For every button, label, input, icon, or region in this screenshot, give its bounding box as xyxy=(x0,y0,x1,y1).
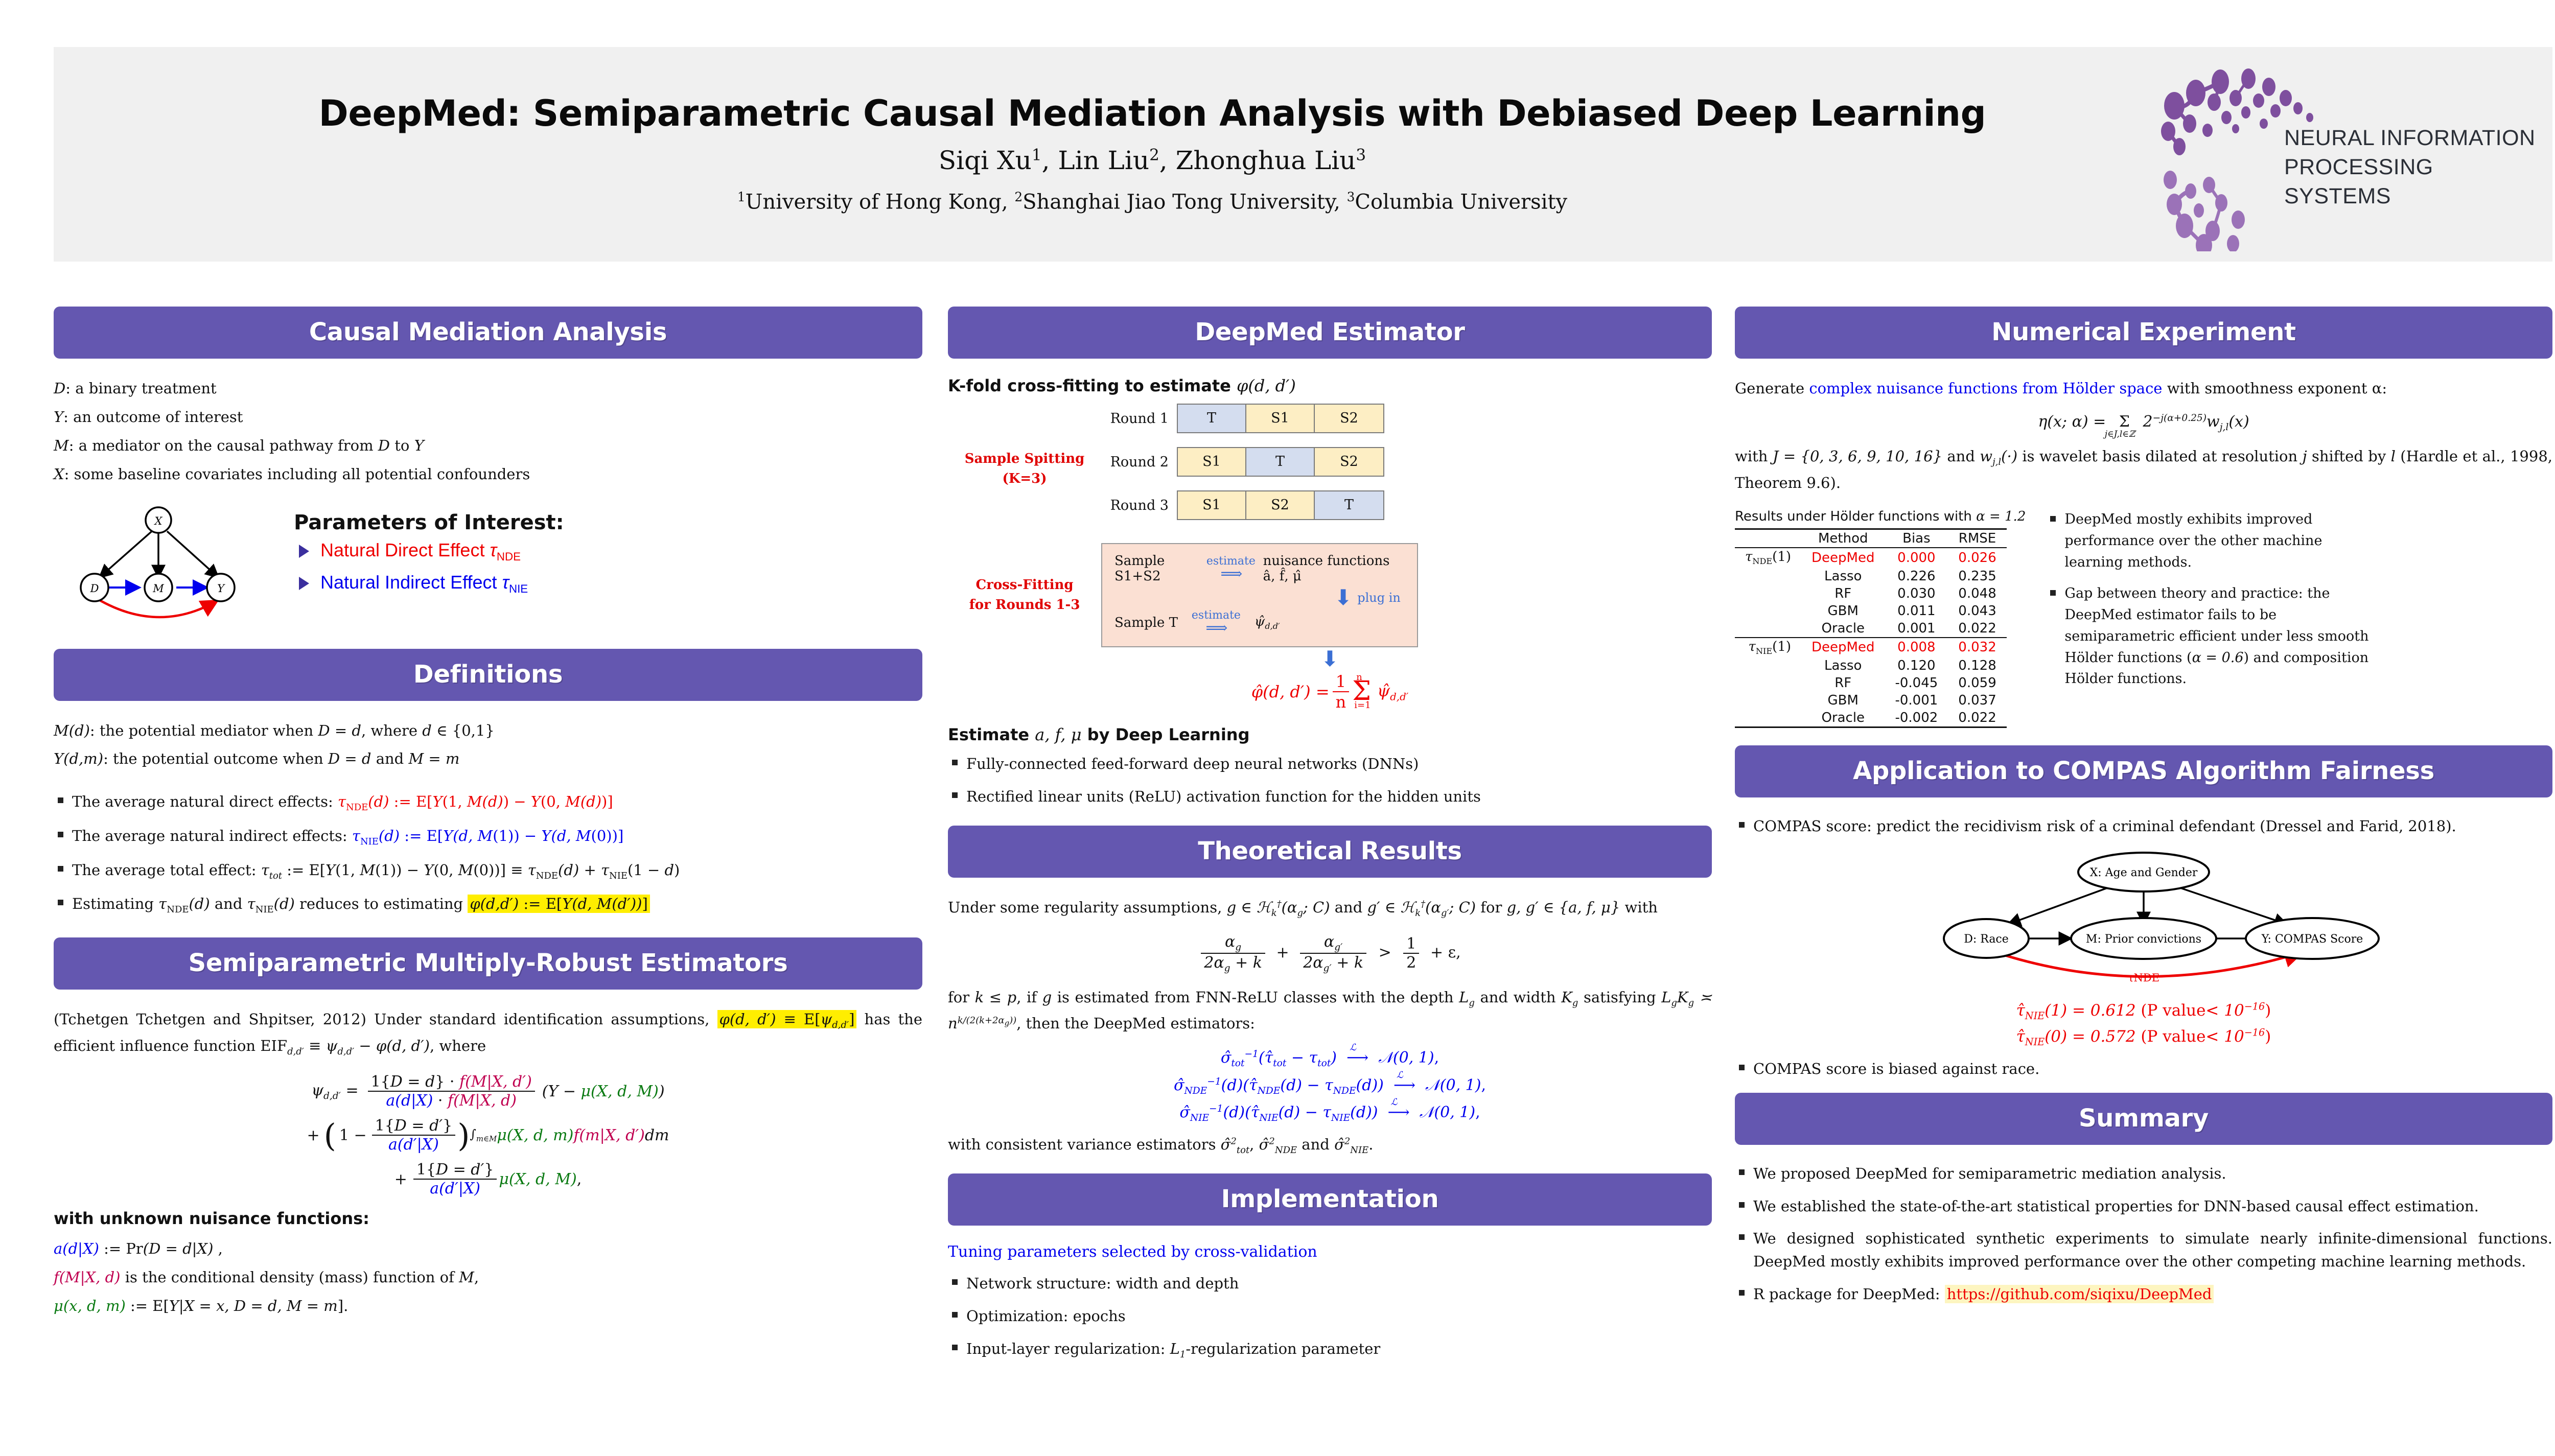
dag-node-X: X xyxy=(154,515,163,527)
semiparametric-citation: (Tchetgen Tchetgen and Shpitser, 2012) U… xyxy=(54,1011,709,1028)
poster-header: DeepMed: Semiparametric Causal Mediation… xyxy=(54,47,2552,262)
column-right: Numerical Experiment Generate complex nu… xyxy=(1735,307,2552,1316)
split-label-line1: Sample Spitting xyxy=(948,449,1101,469)
compas-dag-block: τNDE X: Age and Gender D: Race M: Prior … xyxy=(1735,848,2552,998)
round-cell: S1 xyxy=(1246,405,1315,432)
phi-psi-highlight: φ(d, d′) ≡ E[ψd,d′] xyxy=(717,1010,857,1028)
table-cell-bias: 0.011 xyxy=(1885,602,1948,620)
round-cell: S2 xyxy=(1246,491,1315,519)
cf-psi-hat: ψ̂d,d′ xyxy=(1255,614,1280,631)
cross-fitting-block: Cross-Fitting for Rounds 1-3 Sample S1+S… xyxy=(948,543,1712,647)
compas-result-nie1: τ̂NIE(1) = 0.612 (P value< 10−16) xyxy=(1735,998,2552,1024)
tuning-bullet: Optimization: epochs xyxy=(948,1305,1712,1328)
sample-splitting-label: Sample Spitting (K=3) xyxy=(948,449,1101,489)
cf-row-bottom: Sample T estimate ⟹ ψ̂d,d′ xyxy=(1114,609,1405,637)
table-row: Lasso 0.120 0.128 xyxy=(1735,657,2007,674)
neurips-logo: NEURAL INFORMATION PROCESSING SYSTEMS xyxy=(2190,57,2537,251)
def-Md: M(d): the potential mediator when D = d,… xyxy=(54,718,922,744)
round-cell: S2 xyxy=(1315,405,1383,432)
round-cell: T xyxy=(1178,405,1246,432)
param-nie: Natural Indirect Effect τNIE xyxy=(294,572,564,596)
parameters-of-interest: Parameters of Interest: Natural Direct E… xyxy=(294,501,564,604)
page-title: DeepMed: Semiparametric Causal Mediation… xyxy=(115,95,2190,133)
generate-link-text: complex nuisance functions from Hölder s… xyxy=(1809,380,2162,397)
table-cell-rmse: 0.059 xyxy=(1948,674,2006,692)
compas-bullet-list: COMPAS score: predict the recidivism ris… xyxy=(1735,815,2552,838)
cf-sample-t: Sample T xyxy=(1114,615,1178,630)
table-cell-method: GBM xyxy=(1801,602,1885,620)
compas-result-nie0: τ̂NIE(0) = 0.572 (P value< 10−16) xyxy=(1735,1024,2552,1050)
table-cell-method: Lasso xyxy=(1801,657,1885,674)
theory-paragraph-1: Under some regularity assumptions, g ∈ ℋ… xyxy=(948,895,1712,922)
convergence-line-nde: σ̂NDE−1(d)(τ̂NDE(d) − τNDE(d)) ⟶ℒ 𝒩(0, 1… xyxy=(948,1072,1712,1100)
finding-bullet: DeepMed mostly exhibits improved perform… xyxy=(2046,509,2383,573)
github-link[interactable]: https://github.com/siqixu/DeepMed xyxy=(1945,1285,2214,1303)
table-cell-method: Oracle xyxy=(1801,620,1885,638)
table-row: Lasso 0.226 0.235 xyxy=(1735,568,2007,585)
convergence-formulas: σ̂tot−1(τ̂tot − τtot) ⟶ℒ 𝒩(0, 1), σ̂NDE−… xyxy=(948,1045,1712,1127)
logo-line-1: NEURAL INFORMATION xyxy=(2284,124,2537,153)
table-header-row: Method Bias RMSE xyxy=(1735,529,2007,548)
table-col-estimand xyxy=(1735,529,1801,548)
estimate-bullet: Rectified linear units (ReLU) activation… xyxy=(948,785,1712,808)
nuisance-a: a(d|X) := Pr(D = d|X) , xyxy=(54,1236,922,1262)
section-header-summary: Summary xyxy=(1735,1093,2552,1145)
tuning-bullet-list: Network structure: width and depth Optim… xyxy=(948,1272,1712,1362)
nuisance-f: f(M|X, d) is the conditional density (ma… xyxy=(54,1265,922,1290)
compas-node-d: D: Race xyxy=(1964,933,2009,946)
table-row: τNIE(1) DeepMed 0.008 0.032 xyxy=(1735,638,2007,657)
variance-estimators-text: with consistent variance estimators σ̂2t… xyxy=(948,1132,1712,1159)
results-table-block: Results under Hölder functions with α = … xyxy=(1735,509,2026,727)
theory-paragraph-2: for k ≤ p, if g is estimated from FNN-Re… xyxy=(948,985,1712,1037)
semiparametric-paragraph: (Tchetgen Tchetgen and Shpitser, 2012) U… xyxy=(54,1007,922,1060)
compas-node-y: Y: COMPAS Score xyxy=(2261,933,2363,946)
definition-bullet-phi: Estimating τNDE(d) and τNIE(d) reduces t… xyxy=(54,893,922,917)
down-arrow-icon: ⬇ xyxy=(1334,589,1352,606)
table-cell-bias: -0.045 xyxy=(1885,674,1948,692)
psi-formula: ψd,d′ = 1{D = d} · f(M|X, d′) a(d|X) · f… xyxy=(54,1073,922,1197)
double-arrow-icon: ⟹ xyxy=(1199,566,1263,582)
generate-pre: Generate xyxy=(1735,380,1809,397)
compas-dag-edge-label: τNDE xyxy=(2128,972,2159,984)
estimate-bullet: Fully-connected feed-forward deep neural… xyxy=(948,753,1712,776)
table-cell-rmse: 0.235 xyxy=(1948,568,2006,585)
variable-def-Y: Y: an outcome of interest xyxy=(54,405,922,430)
round-label: Round 1 xyxy=(1101,411,1177,427)
eta-formula: η(x; α) = Σ j∈J,l∈ℤ 2−j(α+0.25)wj,l(x) xyxy=(1735,413,2552,433)
table-row: RF 0.030 0.048 xyxy=(1735,585,2007,602)
dag-node-Y: Y xyxy=(217,582,225,595)
section-header-theoretical-results: Theoretical Results xyxy=(948,826,1712,878)
table-cell-method: GBM xyxy=(1801,692,1885,709)
compas-results: τ̂NIE(1) = 0.612 (P value< 10−16) τ̂NIE(… xyxy=(1735,998,2552,1050)
table-cell-method: DeepMed xyxy=(1801,548,1885,567)
section-header-deepmed-estimator: DeepMed Estimator xyxy=(948,307,1712,359)
wavelet-paragraph: with J = {0, 3, 6, 9, 10, 16} and wj,l(·… xyxy=(1735,444,2552,496)
finding-bullet: Gap between theory and practice: the Dee… xyxy=(2046,583,2383,690)
dag-node-D: D xyxy=(90,582,99,595)
def-Ydm: Y(d,m): the potential outcome when D = d… xyxy=(54,746,922,772)
cf-plugin-label: plug in xyxy=(1357,591,1401,605)
generate-paragraph: Generate complex nuisance functions from… xyxy=(1735,376,2552,402)
variable-def-X: X: some baseline covariates including al… xyxy=(54,462,922,487)
table-col-method: Method xyxy=(1801,529,1885,548)
results-table: Method Bias RMSE τNDE(1) DeepMed 0.000 0… xyxy=(1735,528,2007,727)
table-row: τNDE(1) DeepMed 0.000 0.026 xyxy=(1735,548,2007,567)
tuning-heading: Tuning parameters selected by cross-vali… xyxy=(948,1243,1712,1261)
column-left: Causal Mediation Analysis D: a binary tr… xyxy=(54,307,922,1322)
header-text-block: DeepMed: Semiparametric Causal Mediation… xyxy=(54,95,2190,214)
param-nde: Natural Direct Effect τNDE xyxy=(294,539,564,563)
table-row: RF -0.045 0.059 xyxy=(1735,674,2007,692)
generate-post: with smoothness exponent α: xyxy=(2162,380,2387,397)
table-cell-bias: -0.001 xyxy=(1885,692,1948,709)
table-cell-bias: 0.000 xyxy=(1885,548,1948,567)
summary-rpackage-label: R package for DeepMed: xyxy=(1753,1285,1945,1303)
convergence-line-tot: σ̂tot−1(τ̂tot − τtot) ⟶ℒ 𝒩(0, 1), xyxy=(948,1045,1712,1072)
cf-sample-s1s2: Sample S1+S2 xyxy=(1114,553,1199,584)
findings-bullet-list: DeepMed mostly exhibits improved perform… xyxy=(2046,509,2383,699)
summary-bullet-list: We proposed DeepMed for semiparametric m… xyxy=(1735,1162,2552,1306)
convergence-line-nie: σ̂NIE−1(d)(τ̂NIE(d) − τNIE(d)) ⟶ℒ 𝒩(0, 1… xyxy=(948,1099,1712,1127)
table-row: Oracle -0.002 0.022 xyxy=(1735,709,2007,727)
compas-conclusion-list: COMPAS score is biased against race. xyxy=(1735,1058,2552,1081)
table-cell-method: RF xyxy=(1801,674,1885,692)
summary-bullet-rpackage: R package for DeepMed: https://github.co… xyxy=(1735,1283,2552,1306)
compas-bullet: COMPAS score: predict the recidivism ris… xyxy=(1735,815,2552,838)
phi-hat-formula: φ̂(d, d′) = 1n Σ n i=1 ψ̂d,d′ xyxy=(1251,672,1409,712)
cross-fitting-label: Cross-Fitting for Rounds 1-3 xyxy=(948,575,1101,615)
variable-def-M: M: a mediator on the causal pathway from… xyxy=(54,433,922,459)
table-cell-rmse: 0.022 xyxy=(1948,620,2006,638)
nuisance-heading: with unknown nuisance functions: xyxy=(54,1209,922,1228)
cf-row-top: Sample S1+S2 estimate ⟹ nuisance functio… xyxy=(1114,553,1405,584)
round-row: Round 3 S1 S2 T xyxy=(1101,490,1384,520)
table-cell-method: DeepMed xyxy=(1801,638,1885,657)
cf-estimate-arrow-1: estimate ⟹ xyxy=(1199,555,1263,582)
table-cell-method: Lasso xyxy=(1801,568,1885,585)
crossfit-label-line1: Cross-Fitting xyxy=(948,575,1101,595)
section-header-implementation: Implementation xyxy=(948,1173,1712,1226)
dag-node-M: M xyxy=(152,582,164,595)
summary-bullet: We established the state-of-the-art stat… xyxy=(1735,1195,2552,1218)
compas-dag-diagram: τNDE X: Age and Gender D: Race M: Prior … xyxy=(1898,848,2389,996)
table-row: GBM -0.001 0.037 xyxy=(1735,692,2007,709)
cf-nuisance-target: nuisance functions â, f̂, μ̂ xyxy=(1263,553,1405,584)
causal-dag-block: X D M Y Parameters of Interest: Natural … xyxy=(54,501,922,628)
round-cells: S1 S2 T xyxy=(1177,490,1384,520)
results-table-caption: Results under Hölder functions with α = … xyxy=(1735,509,2026,524)
compas-node-m: M: Prior convictions xyxy=(2086,933,2201,946)
table-row: Oracle 0.001 0.022 xyxy=(1735,620,2007,638)
cf-estimate-arrow-2: estimate ⟹ xyxy=(1178,609,1255,637)
table-cell-rmse: 0.128 xyxy=(1948,657,2006,674)
poster-root: DeepMed: Semiparametric Causal Mediation… xyxy=(0,0,2555,1456)
neurips-logo-text: NEURAL INFORMATION PROCESSING SYSTEMS xyxy=(2284,124,2537,210)
section-header-semiparametric: Semiparametric Multiply-Robust Estimator… xyxy=(54,937,922,990)
estimate-bullet-list: Fully-connected feed-forward deep neural… xyxy=(948,753,1712,808)
crossfit-label-line2: for Rounds 1-3 xyxy=(948,595,1101,615)
round-cells: T S1 S2 xyxy=(1177,404,1384,433)
round-label: Round 3 xyxy=(1101,498,1177,513)
table-cell-rmse: 0.026 xyxy=(1948,548,2006,567)
table-col-rmse: RMSE xyxy=(1948,529,2006,548)
split-label-line2: (K=3) xyxy=(948,469,1101,489)
table-group-label-nie: τNIE(1) xyxy=(1735,638,1801,657)
rounds-container: Round 1 T S1 S2 Round 2 S1 T S2 xyxy=(1101,404,1384,534)
table-cell-bias: 0.030 xyxy=(1885,585,1948,602)
round-cell: T xyxy=(1246,448,1315,476)
table-cell-bias: 0.120 xyxy=(1885,657,1948,674)
compas-conclusion: COMPAS score is biased against race. xyxy=(1735,1058,2552,1081)
results-and-findings: Results under Hölder functions with α = … xyxy=(1735,509,2552,727)
definition-bullet-total: The average total effect: τtot := E[Y(1,… xyxy=(54,859,922,883)
causal-dag-diagram: X D M Y xyxy=(54,501,273,628)
table-cell-rmse: 0.022 xyxy=(1948,709,2006,727)
table-group-label-nde: τNDE(1) xyxy=(1735,548,1801,567)
round-row: Round 1 T S1 S2 xyxy=(1101,404,1384,433)
estimate-heading: Estimate a, f, μ by Deep Learning xyxy=(948,725,1712,744)
section-header-definitions: Definitions xyxy=(54,649,922,701)
tuning-bullet: Network structure: width and depth xyxy=(948,1272,1712,1295)
down-arrow-icon-2: ⬇ xyxy=(948,649,1712,669)
table-cell-bias: 0.001 xyxy=(1885,620,1948,638)
summary-bullet: We proposed DeepMed for semiparametric m… xyxy=(1735,1162,2552,1185)
table-col-bias: Bias xyxy=(1885,529,1948,548)
affiliation-list: 1University of Hong Kong, 2Shanghai Jiao… xyxy=(115,190,2190,214)
table-cell-rmse: 0.043 xyxy=(1948,602,2006,620)
table-cell-bias: -0.002 xyxy=(1885,709,1948,727)
logo-line-2: PROCESSING SYSTEMS xyxy=(2284,153,2537,211)
cf-plugin-block: ⬇ plug in xyxy=(1334,589,1405,606)
tuning-bullet: Input-layer regularization: L1-regulariz… xyxy=(948,1337,1712,1362)
section-header-causal-mediation: Causal Mediation Analysis xyxy=(54,307,922,359)
nuisance-list: a(d|X) := Pr(D = d|X) , f(M|X, d) is the… xyxy=(54,1236,922,1319)
table-cell-rmse: 0.037 xyxy=(1948,692,2006,709)
table-cell-rmse: 0.032 xyxy=(1948,638,2006,657)
table-row: GBM 0.011 0.043 xyxy=(1735,602,2007,620)
table-cell-bias: 0.226 xyxy=(1885,568,1948,585)
definition-bullet-nde: The average natural direct effects: τNDE… xyxy=(54,790,922,815)
variable-definitions: D: a binary treatment Y: an outcome of i… xyxy=(54,376,922,487)
parameters-list: Natural Direct Effect τNDE Natural Indir… xyxy=(294,539,564,596)
author-list: Siqi Xu1, Lin Liu2, Zhonghua Liu3 xyxy=(115,146,2190,175)
definition-bullet-nie: The average natural indirect effects: τN… xyxy=(54,825,922,849)
summary-bullet: We designed sophisticated synthetic expe… xyxy=(1735,1227,2552,1273)
final-estimator-block: ⬇ φ̂(d, d′) = 1n Σ n i=1 ψ̂d,d′ xyxy=(948,649,1712,712)
table-cell-method: RF xyxy=(1801,585,1885,602)
table-cell-bias: 0.008 xyxy=(1885,638,1948,657)
cross-fitting-box: Sample S1+S2 estimate ⟹ nuisance functio… xyxy=(1101,543,1418,647)
variable-def-D: D: a binary treatment xyxy=(54,376,922,402)
compas-node-x: X: Age and Gender xyxy=(2090,866,2198,879)
section-header-compas: Application to COMPAS Algorithm Fairness xyxy=(1735,745,2552,797)
round-cell: T xyxy=(1315,491,1383,519)
round-cells: S1 T S2 xyxy=(1177,447,1384,477)
parameters-title: Parameters of Interest: xyxy=(294,511,564,534)
definitions-bullet-list: The average natural direct effects: τNDE… xyxy=(54,790,922,917)
alpha-condition-formula: αg2αg + k + αg′2αg′ + k > 12 + ε, xyxy=(948,933,1712,974)
round-cell: S1 xyxy=(1178,448,1246,476)
table-cell-rmse: 0.048 xyxy=(1948,585,2006,602)
column-middle: DeepMed Estimator K-fold cross-fitting t… xyxy=(948,307,1712,1372)
round-cell: S1 xyxy=(1178,491,1246,519)
potential-outcome-definitions: M(d): the potential mediator when D = d,… xyxy=(54,718,922,772)
nuisance-mu: μ(x, d, m) := E[Y|X = x, D = d, M = m]. xyxy=(54,1294,922,1319)
round-cell: S2 xyxy=(1315,448,1383,476)
sample-splitting-diagram: Sample Spitting (K=3) Round 1 T S1 S2 Ro… xyxy=(948,404,1712,534)
round-label: Round 2 xyxy=(1101,454,1177,470)
section-header-numerical-experiment: Numerical Experiment xyxy=(1735,307,2552,359)
round-row: Round 2 S1 T S2 xyxy=(1101,447,1384,477)
kfold-heading: K-fold cross-fitting to estimate φ(d, d′… xyxy=(948,376,1712,395)
table-cell-method: Oracle xyxy=(1801,709,1885,727)
double-arrow-icon-2: ⟹ xyxy=(1178,620,1255,637)
